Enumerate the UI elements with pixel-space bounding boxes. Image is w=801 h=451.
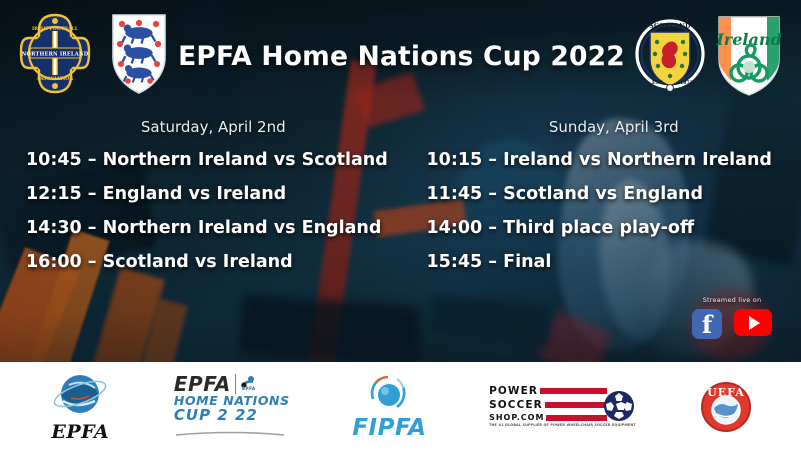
schedule: Saturday, April 2nd 10:45 – Northern Ire… xyxy=(0,118,801,286)
streamed-live-section: Streamed live on f xyxy=(677,296,787,339)
epfa-wordmark: EPFA xyxy=(51,421,109,443)
sponsor-uefa: UEFA xyxy=(700,381,752,433)
day-title-saturday: Saturday, April 2nd xyxy=(26,118,401,136)
facebook-f-glyph: f xyxy=(702,313,712,337)
streamed-live-label: Streamed live on xyxy=(677,296,787,304)
ireland-fai-crest: Ireland xyxy=(713,11,785,101)
sponsor-footer: EPFA EPFA EPFA HOME NATIO xyxy=(0,362,801,451)
pss-line-2: SOCCER xyxy=(489,400,543,411)
fixture-row: 14:30 – Northern Ireland vs England xyxy=(26,218,401,238)
svg-text:EST: EST xyxy=(652,80,663,86)
youtube-icon[interactable] xyxy=(734,309,772,336)
fixture-row: 15:45 – Final xyxy=(427,252,801,272)
sponsor-home-nations-cup: EPFA EPFA HOME NATIONS CUP 2 22 xyxy=(174,374,290,440)
svg-text:SCOTLAND: SCOTLAND xyxy=(649,23,691,30)
day-column-saturday: Saturday, April 2nd 10:45 – Northern Ire… xyxy=(0,118,401,286)
fixture-row: 14:00 – Third place play-off xyxy=(427,218,801,238)
england-fa-crest xyxy=(108,11,170,101)
epfa-globe-icon xyxy=(49,371,111,419)
fixture-row: 11:45 – Scotland vs England xyxy=(427,184,801,204)
pss-line-3: SHOP.COM xyxy=(489,414,544,422)
fixture-row: 16:00 – Scotland vs Ireland xyxy=(26,252,401,272)
svg-text:IRISH FOOTBALL: IRISH FOOTBALL xyxy=(32,26,79,32)
play-triangle-icon xyxy=(749,316,760,330)
fipfa-wordmark: FIPFA xyxy=(352,415,426,441)
sponsor-power-soccer-shop: POWER SOCCER SHOP.COM THE #1 GLOBAL SUPP… xyxy=(489,386,637,428)
northern-ireland-ifa-crest: NORTHERN IRELAND IRISH FOOTBALL ASSOCIAT… xyxy=(18,12,92,100)
page-title: EPFA Home Nations Cup 2022 xyxy=(170,41,633,72)
pss-tagline: THE #1 GLOBAL SUPPLIER OF POWER WHEELCHA… xyxy=(489,424,607,428)
svg-text:ASSOCIATION: ASSOCIATION xyxy=(36,76,75,82)
uefa-wordmark: UEFA xyxy=(707,386,745,399)
sponsor-epfa: EPFA xyxy=(49,371,111,443)
header: NORTHERN IRELAND IRISH FOOTBALL ASSOCIAT… xyxy=(0,0,801,112)
fixture-row: 10:15 – Ireland vs Northern Ireland xyxy=(427,150,801,170)
hn-line-3: CUP 2 22 xyxy=(174,408,258,423)
day-title-sunday: Sunday, April 3rd xyxy=(427,118,801,136)
pss-soccer-ball-icon xyxy=(601,388,637,424)
svg-text:1873: 1873 xyxy=(680,80,693,86)
pss-line-1: POWER xyxy=(489,386,538,397)
fixture-row: 10:45 – Northern Ireland vs Scotland xyxy=(26,150,401,170)
day-column-sunday: Sunday, April 3rd 10:15 – Ireland vs Nor… xyxy=(401,118,801,286)
svg-text:NORTHERN IRELAND: NORTHERN IRELAND xyxy=(22,52,89,58)
uefa-icon: UEFA xyxy=(700,381,752,433)
fixture-row: 12:15 – England vs Ireland xyxy=(26,184,401,204)
sponsor-fipfa: FIPFA xyxy=(352,373,426,441)
fipfa-icon xyxy=(363,373,415,415)
facebook-icon[interactable]: f xyxy=(692,309,722,339)
hn-line-1: EPFA xyxy=(174,374,231,394)
hn-badge-label: EPFA xyxy=(242,388,256,393)
scotland-sfa-crest: SCOTLAND EST 1873 xyxy=(633,12,707,100)
poster: NORTHERN IRELAND IRISH FOOTBALL ASSOCIAT… xyxy=(0,0,801,451)
